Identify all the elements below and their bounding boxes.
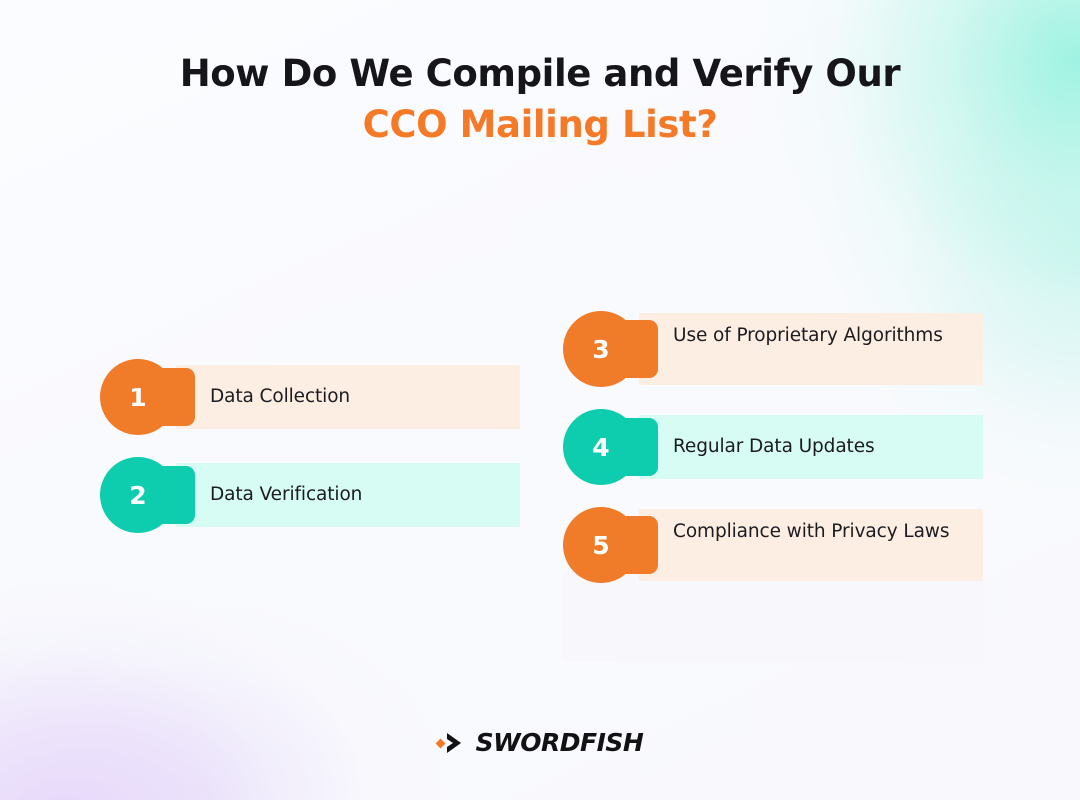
title-line-primary: How Do We Compile and Verify Our: [0, 48, 1080, 99]
step-label-3: Use of Proprietary Algorithms: [673, 323, 971, 349]
step-label-1: Data Collection: [210, 384, 508, 410]
steps-column-left: 1 Data Collection 2 Data Verification: [100, 359, 520, 533]
step-badge-3: 3: [563, 311, 658, 387]
step-label-2: Data Verification: [210, 482, 508, 508]
step-number-2: 2: [100, 457, 176, 533]
logo-mark: [437, 730, 467, 756]
steps-column-right: 3 Use of Proprietary Algorithms 4 Regula…: [563, 311, 983, 583]
step-badge-1: 1: [100, 359, 195, 435]
chevron-right-icon: [445, 732, 465, 754]
step-number-4: 4: [563, 409, 639, 485]
brand-logo: SWORDFISH: [0, 728, 1080, 757]
step-label-4: Regular Data Updates: [673, 434, 971, 460]
step-number-1: 1: [100, 359, 176, 435]
step-item-3: 3 Use of Proprietary Algorithms: [563, 311, 983, 387]
step-badge-2: 2: [100, 457, 195, 533]
diamond-dot-icon: [435, 738, 445, 748]
step-label-5: Compliance with Privacy Laws: [673, 519, 971, 545]
title-line-highlight: CCO Mailing List?: [0, 99, 1080, 150]
infographic-canvas: How Do We Compile and Verify Our CCO Mai…: [0, 0, 1080, 800]
brand-name: SWORDFISH: [476, 728, 644, 757]
step-item-4: 4 Regular Data Updates: [563, 409, 983, 485]
empty-placeholder-panel: [563, 572, 983, 662]
step-item-2: 2 Data Verification: [100, 457, 520, 533]
step-item-1: 1 Data Collection: [100, 359, 520, 435]
step-number-5: 5: [563, 507, 639, 583]
step-badge-4: 4: [563, 409, 658, 485]
step-number-3: 3: [563, 311, 639, 387]
step-badge-5: 5: [563, 507, 658, 583]
step-item-5: 5 Compliance with Privacy Laws: [563, 507, 983, 583]
page-title: How Do We Compile and Verify Our CCO Mai…: [0, 48, 1080, 150]
